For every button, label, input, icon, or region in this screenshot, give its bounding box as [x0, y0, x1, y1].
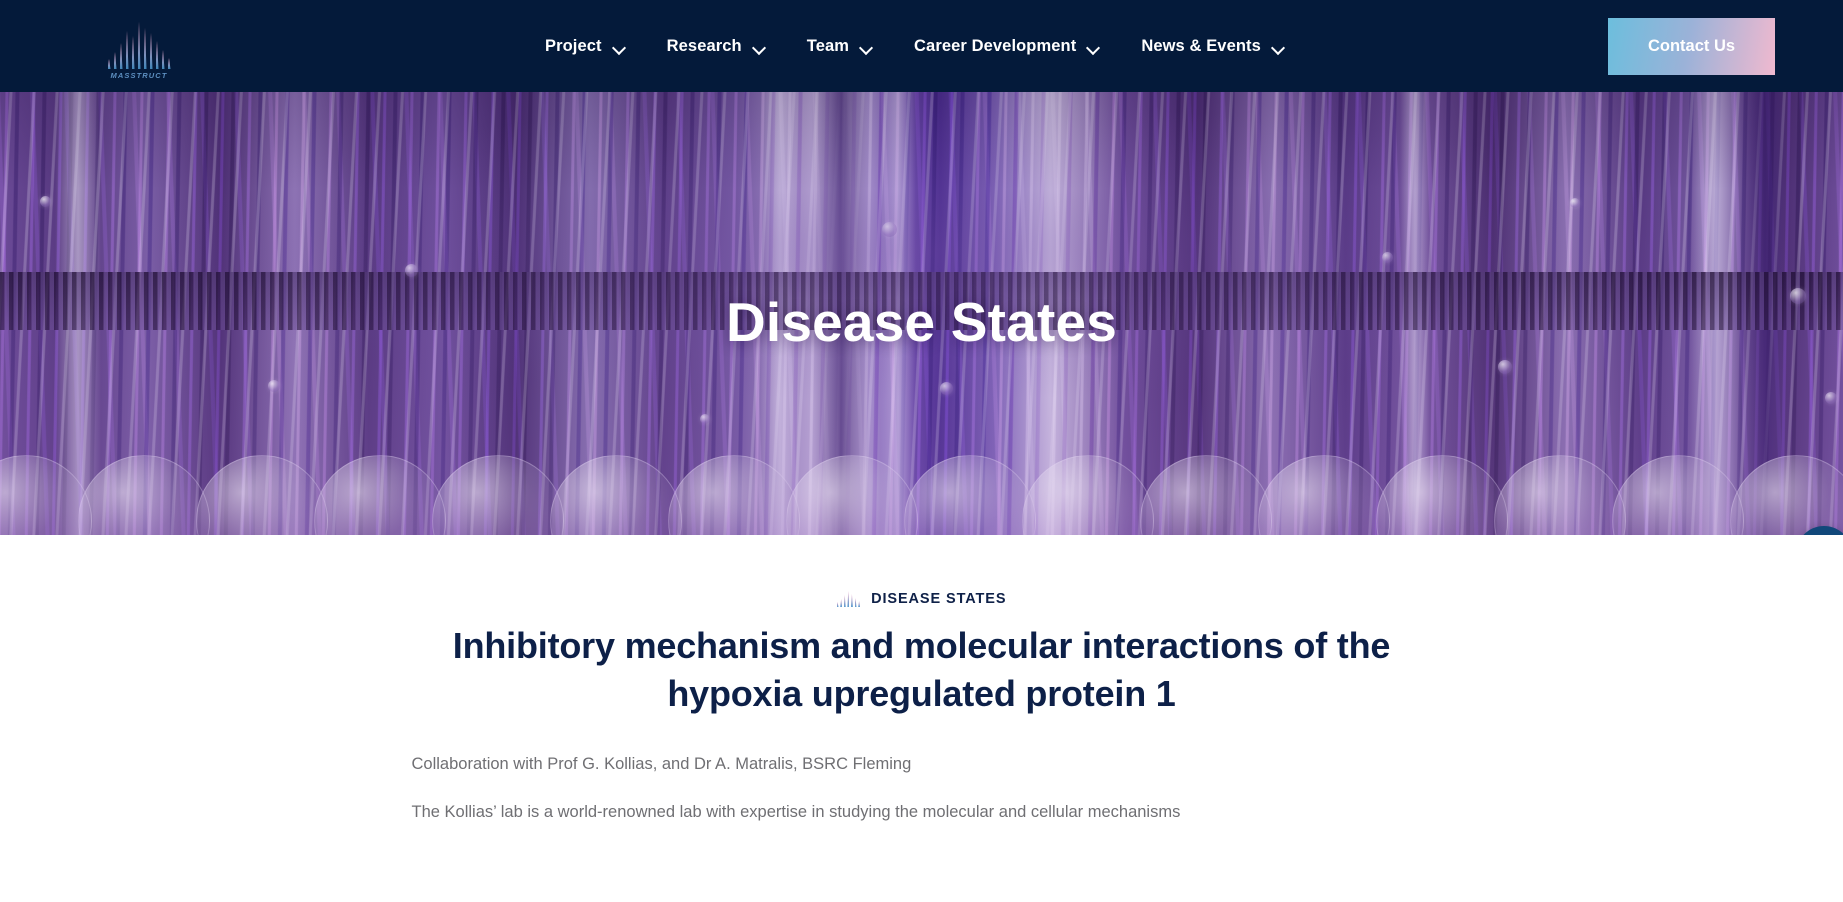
- intro-paragraph: The Kollias’ lab is a world-renowned lab…: [412, 799, 1432, 825]
- nav-item-news-events[interactable]: News & Events: [1141, 37, 1284, 56]
- nav-item-research[interactable]: Research: [667, 37, 765, 56]
- nav-item-career-development[interactable]: Career Development: [914, 37, 1099, 56]
- main-content: DISEASE STATES Inhibitory mechanism and …: [0, 535, 1843, 826]
- nav-item-team[interactable]: Team: [807, 37, 872, 56]
- nav-label: Project: [545, 37, 602, 56]
- hero-section: Disease States: [0, 92, 1843, 535]
- collaboration-line: Collaboration with Prof G. Kollias, and …: [412, 751, 1432, 777]
- contact-us-button[interactable]: Contact Us: [1608, 18, 1775, 75]
- section-eyebrow: DISEASE STATES: [837, 590, 1007, 607]
- mass-spectrum-icon: [108, 19, 171, 69]
- nav-item-project[interactable]: Project: [545, 37, 625, 56]
- site-logo[interactable]: MASSTRUCT: [100, 12, 178, 80]
- nav-label: Research: [667, 37, 742, 56]
- mass-spectrum-icon: [837, 590, 861, 607]
- hero-page-title: Disease States: [0, 290, 1843, 354]
- nav-label: Career Development: [914, 37, 1076, 56]
- chevron-down-icon[interactable]: [1088, 43, 1099, 50]
- main-navigation: Project Research Team Career Development…: [545, 0, 1284, 92]
- eyebrow-label: DISEASE STATES: [871, 591, 1006, 607]
- chevron-down-icon[interactable]: [1273, 43, 1284, 50]
- nav-label: News & Events: [1141, 37, 1261, 56]
- chevron-down-icon[interactable]: [861, 43, 872, 50]
- logo-wordmark: MASSTRUCT: [111, 71, 168, 80]
- site-header: MASSTRUCT Project Research Team Career D…: [0, 0, 1843, 92]
- chevron-down-icon[interactable]: [614, 43, 625, 50]
- page-title: Inhibitory mechanism and molecular inter…: [407, 622, 1437, 717]
- body-text-block: Collaboration with Prof G. Kollias, and …: [412, 751, 1432, 826]
- nav-label: Team: [807, 37, 849, 56]
- chevron-down-icon[interactable]: [754, 43, 765, 50]
